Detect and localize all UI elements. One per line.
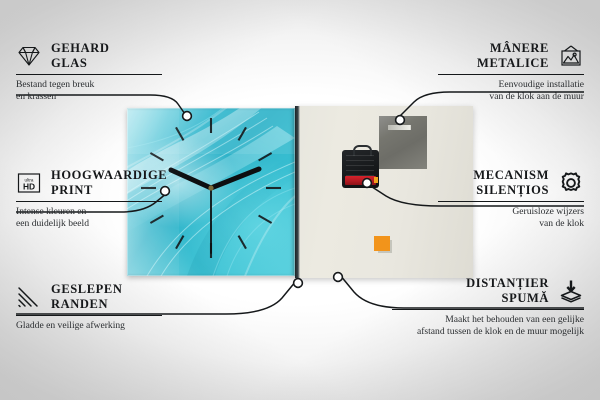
infographic-canvas: GEHARD GLAS Bestand tegen breuk en krass… [0,0,600,400]
callout-desc-line2: en krassen [16,91,162,103]
callout-title-line1: DISTANȚIER [466,276,549,291]
callout-desc-line2: een duidelijk beeld [16,218,162,230]
callout-title-line1: MECANISM [473,168,549,183]
callout-manere-metalice: MÂNERE METALICE Eenvoudige installatie v… [438,41,584,102]
callout-desc-line2: van de klok aan de muur [438,91,584,103]
callout-mecanism-silentios: MECANISM SILENȚIOS Geruisloze wijzers va… [438,168,584,229]
beveled-edges-icon [16,284,42,310]
callout-rule [16,201,162,202]
callout-title-line2: SILENȚIOS [473,183,549,198]
callout-desc-line1: Intense kleuren en [16,206,162,218]
foam-spacer-pad [374,236,390,251]
callout-rule [438,74,584,75]
spacer-press-icon [558,278,584,304]
callout-geslepen-randen: GESLEPEN RANDEN Gladde en veilige afwerk… [16,282,162,332]
callout-desc-line1: Maakt het behouden van een gelijke [392,314,584,326]
callout-hoogwaardige-print: ultra HD HOOGWAARDIGE PRINT Intense kleu… [16,168,162,229]
callout-rule [392,309,584,310]
callout-rule [16,74,162,75]
callout-title-line2: RANDEN [51,297,123,312]
callout-title-line2: SPUMĂ [466,291,549,306]
callout-title-line1: MÂNERE [477,41,549,56]
callout-rule [438,201,584,202]
framed-picture-icon [558,43,584,69]
callout-desc-line1: Gladde en veilige afwerking [16,320,162,332]
callout-title-line1: GEHARD [51,41,109,56]
callout-title-line1: GESLEPEN [51,282,123,297]
callout-desc-line2: van de klok [438,218,584,230]
callout-desc-line2: afstand tussen de klok en de muur mogeli… [392,326,584,338]
callout-desc-line1: Geruisloze wijzers [438,206,584,218]
clock-mechanism-box [342,150,379,188]
battery [345,176,376,185]
callout-title-line2: METALICE [477,56,549,71]
mechanism-vents [346,155,374,177]
callout-distantier-spuma: DISTANȚIER SPUMĂ Maakt het behouden van … [392,276,584,337]
callout-gehard-glas: GEHARD GLAS Bestand tegen breuk en krass… [16,41,162,102]
ultra-hd-icon: ultra HD [16,170,42,196]
callout-title-line2: PRINT [51,183,167,198]
callout-desc-line1: Eenvoudige installatie [438,79,584,91]
svg-text:HD: HD [23,181,35,191]
callout-title-line1: HOOGWAARDIGE [51,168,167,183]
product-image [127,108,473,276]
callout-desc-line1: Bestand tegen breuk [16,79,162,91]
gear-icon [558,170,584,196]
callout-rule [16,315,162,316]
callout-title-line2: GLAS [51,56,109,71]
diamond-icon [16,43,42,69]
metal-hanger-plate [379,116,427,169]
